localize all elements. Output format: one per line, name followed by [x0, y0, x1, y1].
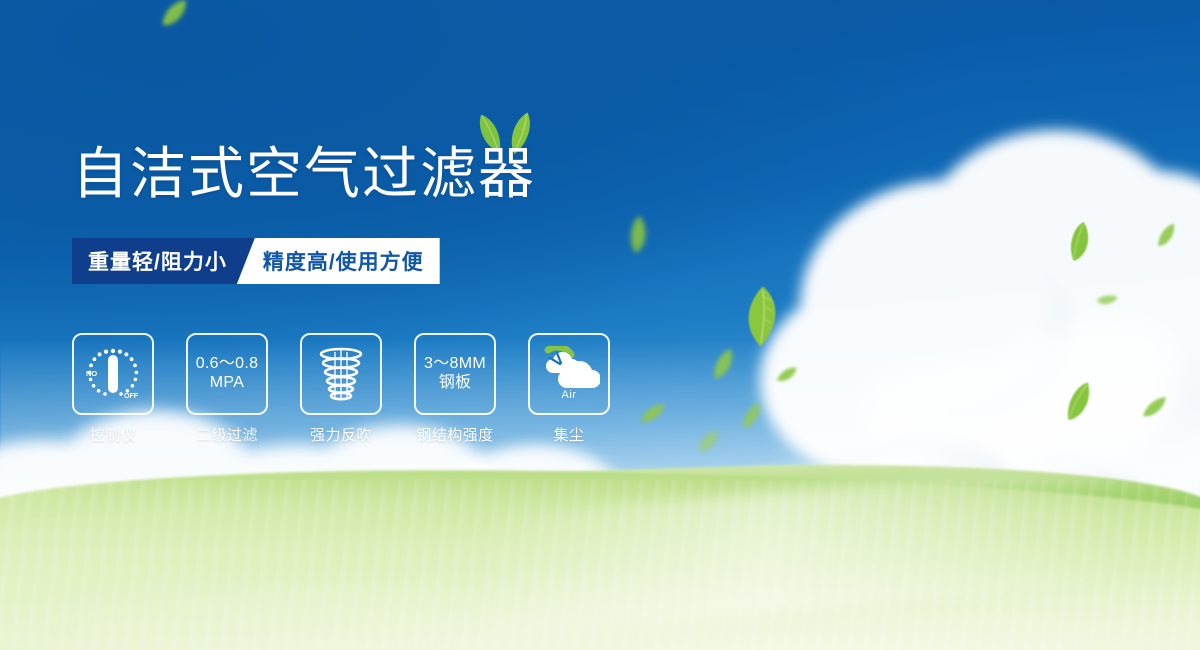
- subtitle-right-segment: 精度高/使用方便: [237, 238, 440, 284]
- dial-on-label: NO: [86, 369, 97, 378]
- feature-label: 集尘: [553, 424, 584, 445]
- feature-item-steel[interactable]: 3～8MM 钢板 钢结构强度: [414, 333, 496, 445]
- feature-icon-row: NO OFF 控制仪 0.6～0.8 MPA 二级过滤: [72, 333, 610, 445]
- feature-label: 钢结构强度: [416, 424, 494, 445]
- feature-label: 控制仪: [90, 424, 137, 445]
- dial-off-label: OFF: [124, 393, 139, 400]
- steel-plate-text-icon: 3～8MM 钢板: [414, 333, 496, 415]
- feature-label: 二级过滤: [196, 424, 258, 445]
- hero-banner: 自洁式空气过滤器 重量轻/阻力小 精度高/使用方便: [0, 0, 1200, 650]
- feature-label: 强力反吹: [310, 424, 372, 445]
- pressure-line-1: 0.6～0.8: [196, 355, 259, 374]
- steel-line-2: 钢板: [439, 374, 472, 393]
- grass-light-bloom: [0, 510, 1200, 650]
- pressure-line-2: MPA: [210, 374, 244, 393]
- steel-line-1: 3～8MM: [424, 355, 486, 374]
- subtitle-bar: 重量轻/阻力小 精度高/使用方便: [72, 238, 462, 284]
- feature-item-pressure[interactable]: 0.6～0.8 MPA 二级过滤: [186, 333, 268, 445]
- feature-item-backblow[interactable]: 强力反吹: [300, 333, 382, 445]
- cloud-air-icon: Air: [528, 333, 610, 415]
- coil-spring-icon: [300, 333, 382, 415]
- air-label: Air: [562, 389, 577, 402]
- page-title: 自洁式空气过滤器: [72, 144, 536, 204]
- feature-item-dust-collection[interactable]: Air 集尘: [528, 333, 610, 445]
- feature-item-control-dial[interactable]: NO OFF 控制仪: [72, 333, 154, 445]
- subtitle-left-segment: 重量轻/阻力小: [72, 238, 245, 284]
- pressure-text-icon: 0.6～0.8 MPA: [186, 333, 268, 415]
- control-dial-icon: NO OFF: [72, 333, 154, 415]
